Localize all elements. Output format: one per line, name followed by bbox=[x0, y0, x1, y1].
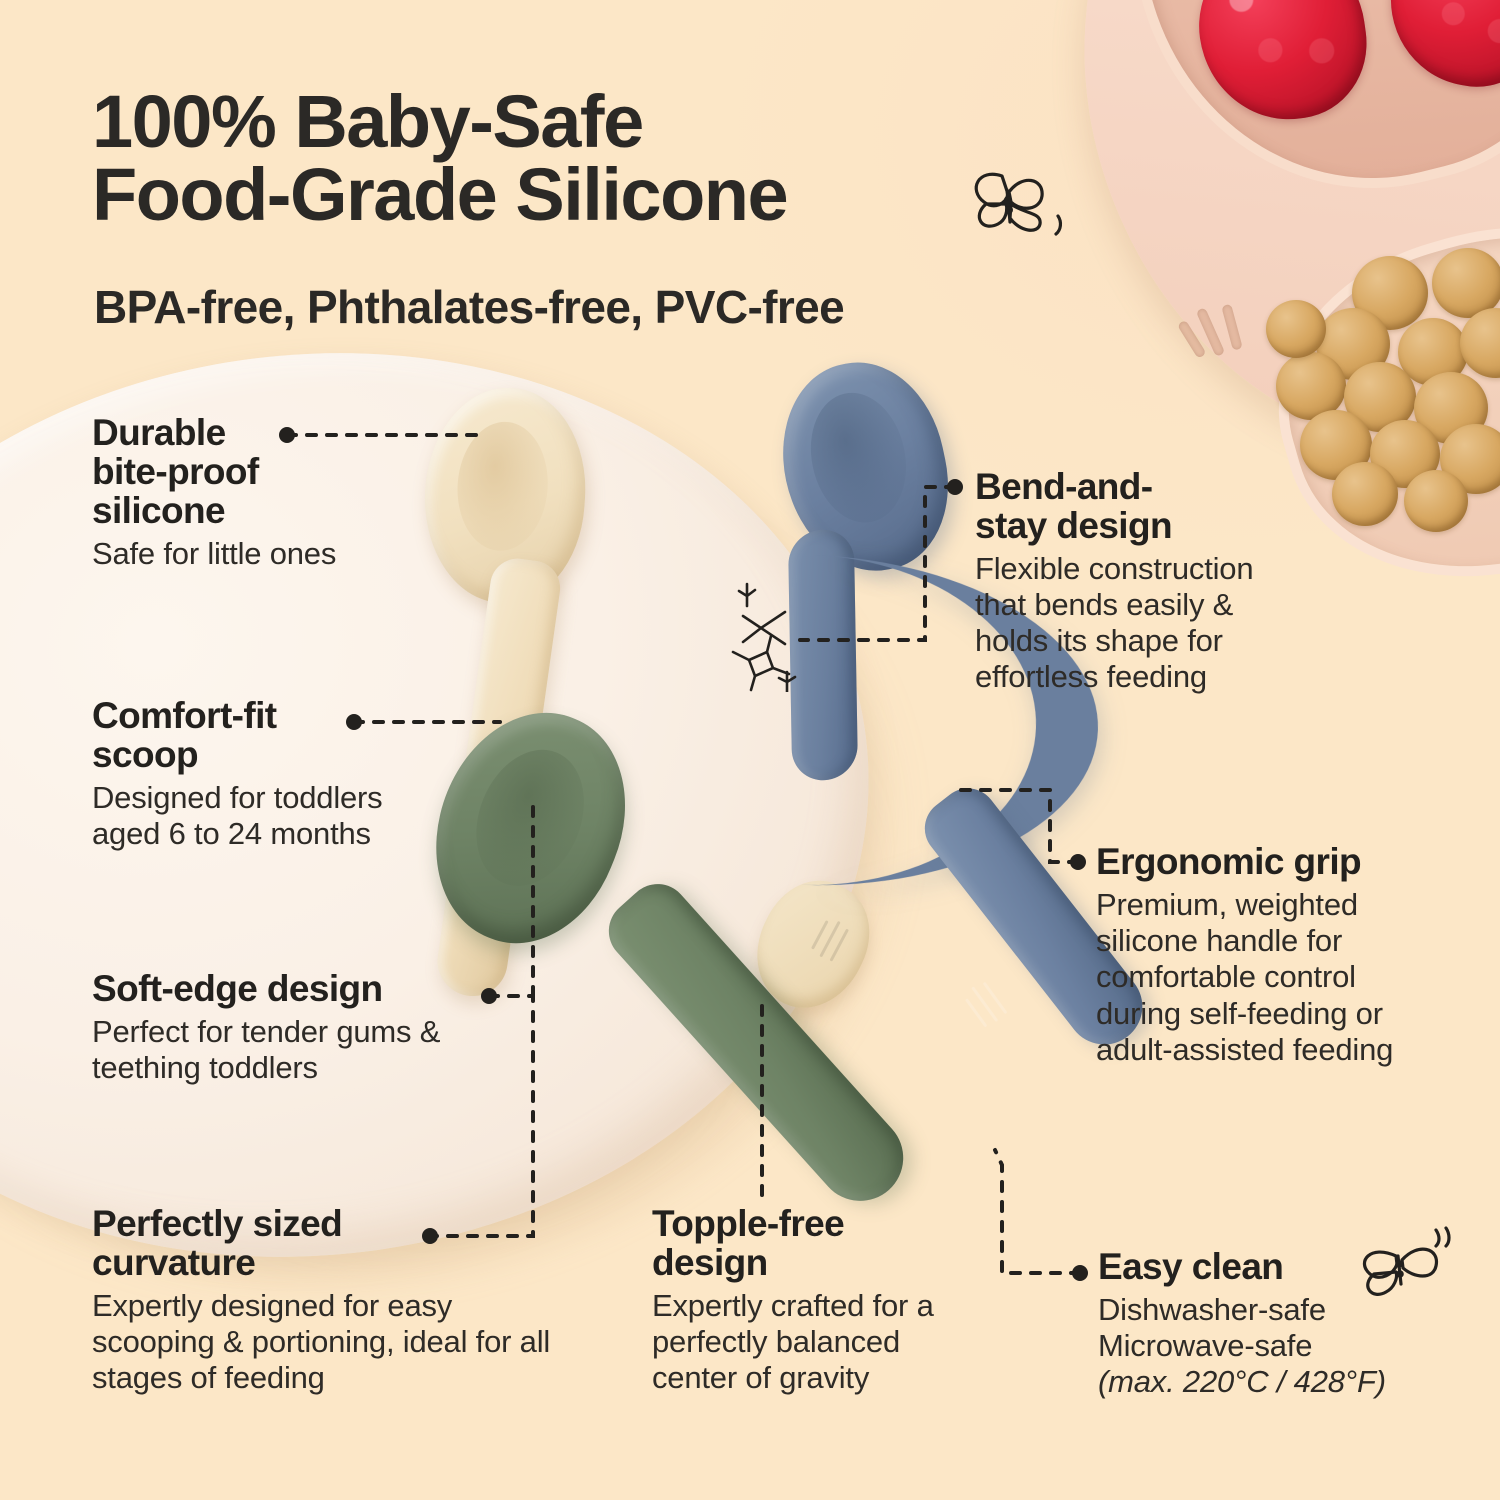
feature-description: Premium, weighted silicone handle for co… bbox=[1096, 887, 1426, 1068]
feature-description: Dishwasher-safe Microwave-safe (max. 220… bbox=[1098, 1292, 1438, 1401]
feature-title: Easy clean bbox=[1098, 1248, 1438, 1287]
feature-ergonomic-grip: Ergonomic grip Premium, weighted silicon… bbox=[1096, 843, 1426, 1068]
feature-description: Flexible construction that bends easily … bbox=[975, 551, 1305, 696]
feature-soft-edge: Soft-edge design Perfect for tender gums… bbox=[92, 970, 522, 1086]
headline-line-2: Food-Grade Silicone bbox=[92, 159, 1042, 232]
easy-clean-line-2: Microwave-safe bbox=[1098, 1328, 1438, 1364]
callout-dot-bend-and-stay bbox=[947, 479, 963, 495]
sparkle-doodle bbox=[725, 582, 815, 692]
feature-title: Ergonomic grip bbox=[1096, 843, 1426, 882]
feature-easy-clean: Easy clean Dishwasher-safe Microwave-saf… bbox=[1098, 1248, 1438, 1401]
callout-dot-ergonomic-grip bbox=[1070, 854, 1086, 870]
easy-clean-line-1: Dishwasher-safe bbox=[1098, 1292, 1438, 1328]
feature-description: Expertly crafted for a perfectly balance… bbox=[652, 1288, 992, 1397]
feature-title: Bend-and- stay design bbox=[975, 468, 1305, 546]
feature-topple-free: Topple-free design Expertly crafted for … bbox=[652, 1205, 992, 1396]
feature-title: Comfort-fit scoop bbox=[92, 697, 452, 775]
callout-dot-easy-clean bbox=[1072, 1265, 1088, 1281]
headline-line-1: 100% Baby-Safe bbox=[92, 80, 643, 163]
feature-description: Safe for little ones bbox=[92, 536, 432, 572]
page-subtitle: BPA-free, Phthalates-free, PVC-free bbox=[94, 280, 1094, 334]
feature-comfort-fit: Comfort-fit scoop Designed for toddlers … bbox=[92, 697, 452, 852]
feature-title: Durable bite-proof silicone bbox=[92, 414, 432, 531]
feature-title: Topple-free design bbox=[652, 1205, 992, 1283]
infographic-canvas: 100% Baby-Safe Food-Grade Silicone BPA-f… bbox=[0, 0, 1500, 1500]
page-title: 100% Baby-Safe Food-Grade Silicone bbox=[92, 86, 1042, 231]
feature-description: Perfect for tender gums & teething toddl… bbox=[92, 1014, 522, 1087]
feature-description: Expertly designed for easy scooping & po… bbox=[92, 1288, 562, 1397]
feature-perfectly-sized: Perfectly sized curvature Expertly desig… bbox=[92, 1205, 562, 1396]
feature-bend-and-stay: Bend-and- stay design Flexible construct… bbox=[975, 468, 1305, 696]
feature-title: Soft-edge design bbox=[92, 970, 522, 1009]
feature-description: Designed for toddlers aged 6 to 24 month… bbox=[92, 780, 452, 853]
feature-title: Perfectly sized curvature bbox=[92, 1205, 562, 1283]
easy-clean-temperature: (max. 220°C / 428°F) bbox=[1098, 1364, 1438, 1400]
feature-durable: Durable bite-proof silicone Safe for lit… bbox=[92, 414, 432, 572]
